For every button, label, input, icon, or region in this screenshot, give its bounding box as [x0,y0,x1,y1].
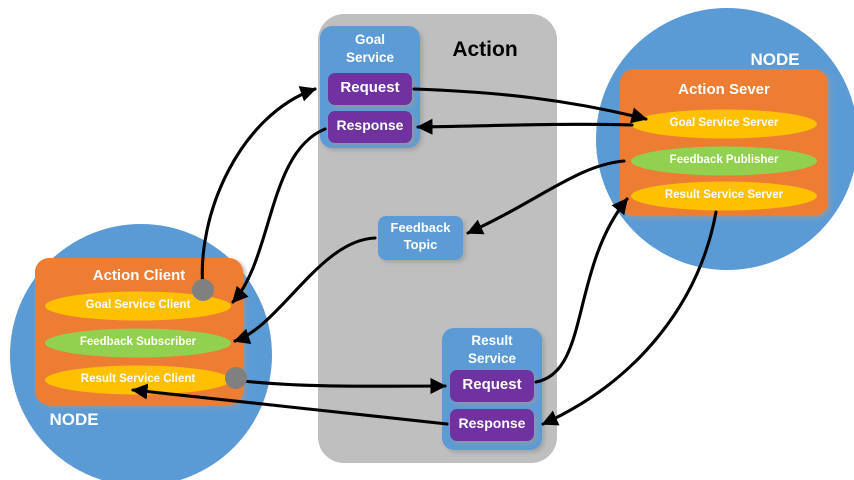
goal-response-box [328,111,412,143]
feedback-subscriber-ellipse [45,329,231,358]
result-service-server-ellipse [631,182,817,211]
result-client-connector-dot [225,367,247,389]
result-request-box [450,370,534,402]
goal-client-connector-dot [192,279,214,301]
diagram-canvas: Action NODE NODE Action Sever Action Cli… [0,0,854,480]
goal-service-server-ellipse [631,110,817,139]
feedback-publisher-ellipse [631,147,817,176]
diagram-svg [0,0,854,480]
goal-request-box [328,73,412,105]
feedback-topic-box [378,216,463,260]
result-response-box [450,409,534,441]
